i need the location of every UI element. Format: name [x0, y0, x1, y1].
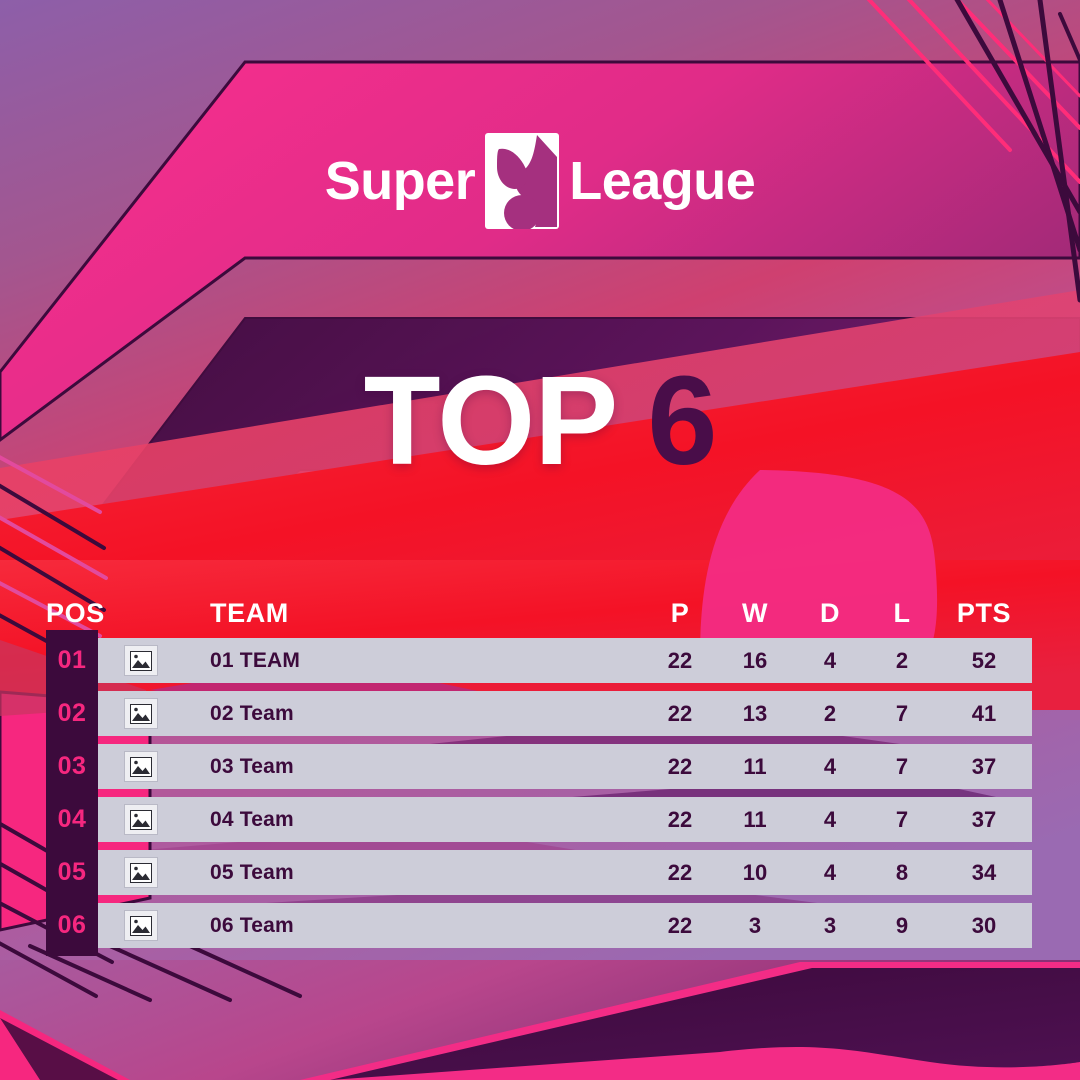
cell-points: 37: [954, 797, 1014, 842]
column-header-pts: PTS: [954, 592, 1014, 634]
cell-won: 11: [725, 797, 785, 842]
cell-lost: 7: [872, 744, 932, 789]
cell-drawn: 4: [800, 638, 860, 683]
team-name: 06 Team: [210, 903, 294, 948]
position-badge: 03: [46, 736, 98, 797]
cell-won: 3: [725, 903, 785, 948]
cell-points: 34: [954, 850, 1014, 895]
column-header-p: P: [650, 592, 710, 634]
cell-drawn: 4: [800, 797, 860, 842]
table-row[interactable]: 0606 Team2233930: [0, 903, 1080, 948]
cell-lost: 9: [872, 903, 932, 948]
brand-word-league: League: [569, 154, 755, 208]
table-row[interactable]: 0101 TEAM22164252: [0, 638, 1080, 683]
table-row[interactable]: 0505 Team22104834: [0, 850, 1080, 895]
table-body: 0101 TEAM221642520202 Team221327410303 T…: [0, 638, 1080, 948]
position-badge: 01: [46, 630, 98, 691]
position-badge: 06: [46, 895, 98, 956]
team-crest-image-placeholder-icon: [124, 698, 158, 729]
cell-points: 30: [954, 903, 1014, 948]
title-number: 6: [647, 358, 716, 484]
position-badge: 05: [46, 842, 98, 903]
title-top-text: TOP: [364, 358, 618, 484]
cell-played: 22: [650, 691, 710, 736]
team-crest-image-placeholder-icon: [124, 857, 158, 888]
cell-drawn: 4: [800, 850, 860, 895]
standings-table: POS TEAM P W D L PTS 0101 TEAM2216425202…: [0, 592, 1080, 956]
column-header-pos: POS: [46, 592, 105, 634]
cell-drawn: 2: [800, 691, 860, 736]
cell-lost: 7: [872, 797, 932, 842]
column-header-l: L: [872, 592, 932, 634]
team-crest-image-placeholder-icon: [124, 804, 158, 835]
position-badge: 04: [46, 789, 98, 850]
cell-played: 22: [650, 638, 710, 683]
cell-lost: 2: [872, 638, 932, 683]
cell-played: 22: [650, 903, 710, 948]
column-header-d: D: [800, 592, 860, 634]
cell-won: 11: [725, 744, 785, 789]
cell-won: 13: [725, 691, 785, 736]
cell-played: 22: [650, 850, 710, 895]
column-header-w: W: [725, 592, 785, 634]
team-name: 02 Team: [210, 691, 294, 736]
cell-lost: 8: [872, 850, 932, 895]
table-row[interactable]: 0202 Team22132741: [0, 691, 1080, 736]
cell-drawn: 4: [800, 744, 860, 789]
team-name: 04 Team: [210, 797, 294, 842]
team-crest-image-placeholder-icon: [124, 910, 158, 941]
cell-played: 22: [650, 797, 710, 842]
cell-points: 52: [954, 638, 1014, 683]
league-standings-graphic: Super League TOP 6 POS TEAM P W D L PTS …: [0, 0, 1080, 1080]
cell-won: 10: [725, 850, 785, 895]
cell-drawn: 3: [800, 903, 860, 948]
brand-logo: Super League: [0, 138, 1080, 224]
cell-points: 41: [954, 691, 1014, 736]
table-header-row: POS TEAM P W D L PTS: [0, 592, 1080, 634]
page-title: TOP 6: [0, 366, 1080, 476]
cell-won: 16: [725, 638, 785, 683]
team-crest-image-placeholder-icon: [124, 751, 158, 782]
table-row[interactable]: 0303 Team22114737: [0, 744, 1080, 789]
team-name: 01 TEAM: [210, 638, 300, 683]
column-header-team: TEAM: [210, 592, 289, 634]
cell-lost: 7: [872, 691, 932, 736]
super-league-logo-mark: [485, 133, 559, 229]
team-name: 03 Team: [210, 744, 294, 789]
team-name: 05 Team: [210, 850, 294, 895]
cell-played: 22: [650, 744, 710, 789]
cell-points: 37: [954, 744, 1014, 789]
brand-word-super: Super: [325, 154, 476, 208]
table-row[interactable]: 0404 Team22114737: [0, 797, 1080, 842]
team-crest-image-placeholder-icon: [124, 645, 158, 676]
position-badge: 02: [46, 683, 98, 744]
